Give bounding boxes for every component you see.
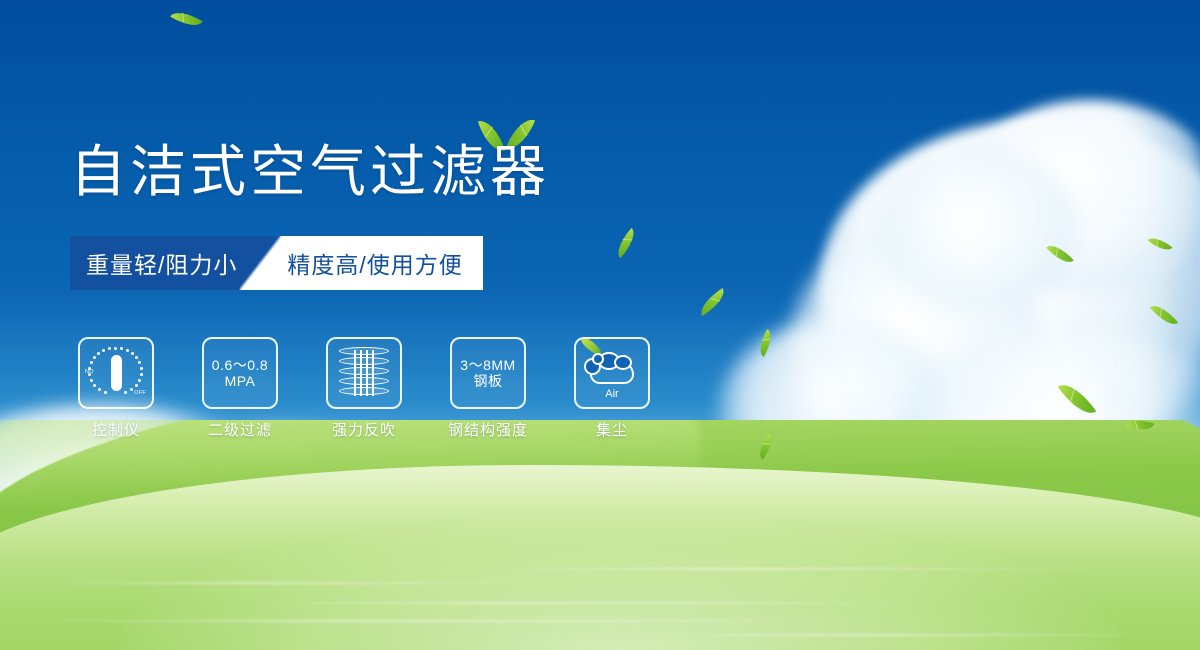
leaf-decoration (1046, 240, 1074, 269)
feature-icon-box: Air (574, 337, 650, 409)
feature-caption: 二级过滤 (208, 419, 272, 440)
cloud-shape (820, 120, 1200, 450)
pressure-unit: MPA (212, 373, 268, 389)
grass-streak (640, 634, 1180, 636)
dial-label-off: OFF (134, 390, 146, 396)
leaf-decoration (1150, 300, 1178, 331)
leaf-decoration (170, 6, 202, 33)
cloud-shape (960, 100, 1200, 290)
air-cloud-icon: Air (582, 348, 642, 398)
grass-field (0, 420, 1200, 650)
pressure-text-icon: 0.6〜0.8 MPA (212, 357, 268, 389)
feature-caption: 控制仪 (92, 419, 140, 440)
grass-streak (240, 602, 940, 604)
grass-streak (480, 568, 1100, 570)
feature-icon-box: 0.6〜0.8 MPA (202, 337, 278, 409)
grass-streak (40, 582, 560, 584)
steel-material: 钢板 (460, 373, 515, 389)
filter-cartridge-icon (339, 345, 389, 401)
subtitle-bar: 重量轻/阻力小 精度高/使用方便 (70, 236, 483, 290)
leaf-decoration (1147, 233, 1172, 256)
feature-icon-box: NO OFF (78, 337, 154, 409)
feature-caption: 强力反吹 (332, 419, 396, 440)
dial-pointer (111, 355, 122, 391)
feature-item-controller[interactable]: NO OFF 控制仪 (78, 337, 154, 440)
cloud-shape (880, 150, 1080, 310)
page-title: 自洁式空气过滤器 (70, 144, 550, 200)
feature-item-steel-strength[interactable]: 3〜8MM 钢板 钢结构强度 (450, 337, 526, 440)
feature-list: NO OFF 控制仪 0.6〜0.8 MPA 二级过滤 (78, 337, 650, 440)
leaf-decoration (695, 288, 729, 316)
leaf-decoration (754, 329, 777, 357)
control-dial-icon: NO OFF (85, 345, 147, 401)
dial-label-no: NO (85, 369, 94, 375)
feature-caption: 钢结构强度 (448, 419, 528, 440)
subtitle-left-text: 重量轻/阻力小 (70, 236, 255, 290)
feature-item-back-blow[interactable]: 强力反吹 (326, 337, 402, 440)
feature-icon-box (326, 337, 402, 409)
feature-item-dust-collection[interactable]: Air 集尘 (574, 337, 650, 440)
product-banner: 自洁式空气过滤器 重量轻/阻力小 精度高/使用方便 (0, 0, 1200, 650)
feature-caption: 集尘 (596, 419, 628, 440)
feature-item-secondary-filtration[interactable]: 0.6〜0.8 MPA 二级过滤 (202, 337, 278, 440)
leaf-decoration (1058, 377, 1096, 422)
air-label: Air (582, 388, 642, 400)
feature-icon-box: 3〜8MM 钢板 (450, 337, 526, 409)
grass-streak (0, 620, 900, 622)
steel-thickness: 3〜8MM (460, 357, 515, 373)
steel-plate-text-icon: 3〜8MM 钢板 (460, 357, 515, 389)
subtitle-right-text: 精度高/使用方便 (265, 236, 482, 290)
pressure-value: 0.6〜0.8 (212, 357, 268, 373)
leaf-decoration (612, 228, 641, 258)
